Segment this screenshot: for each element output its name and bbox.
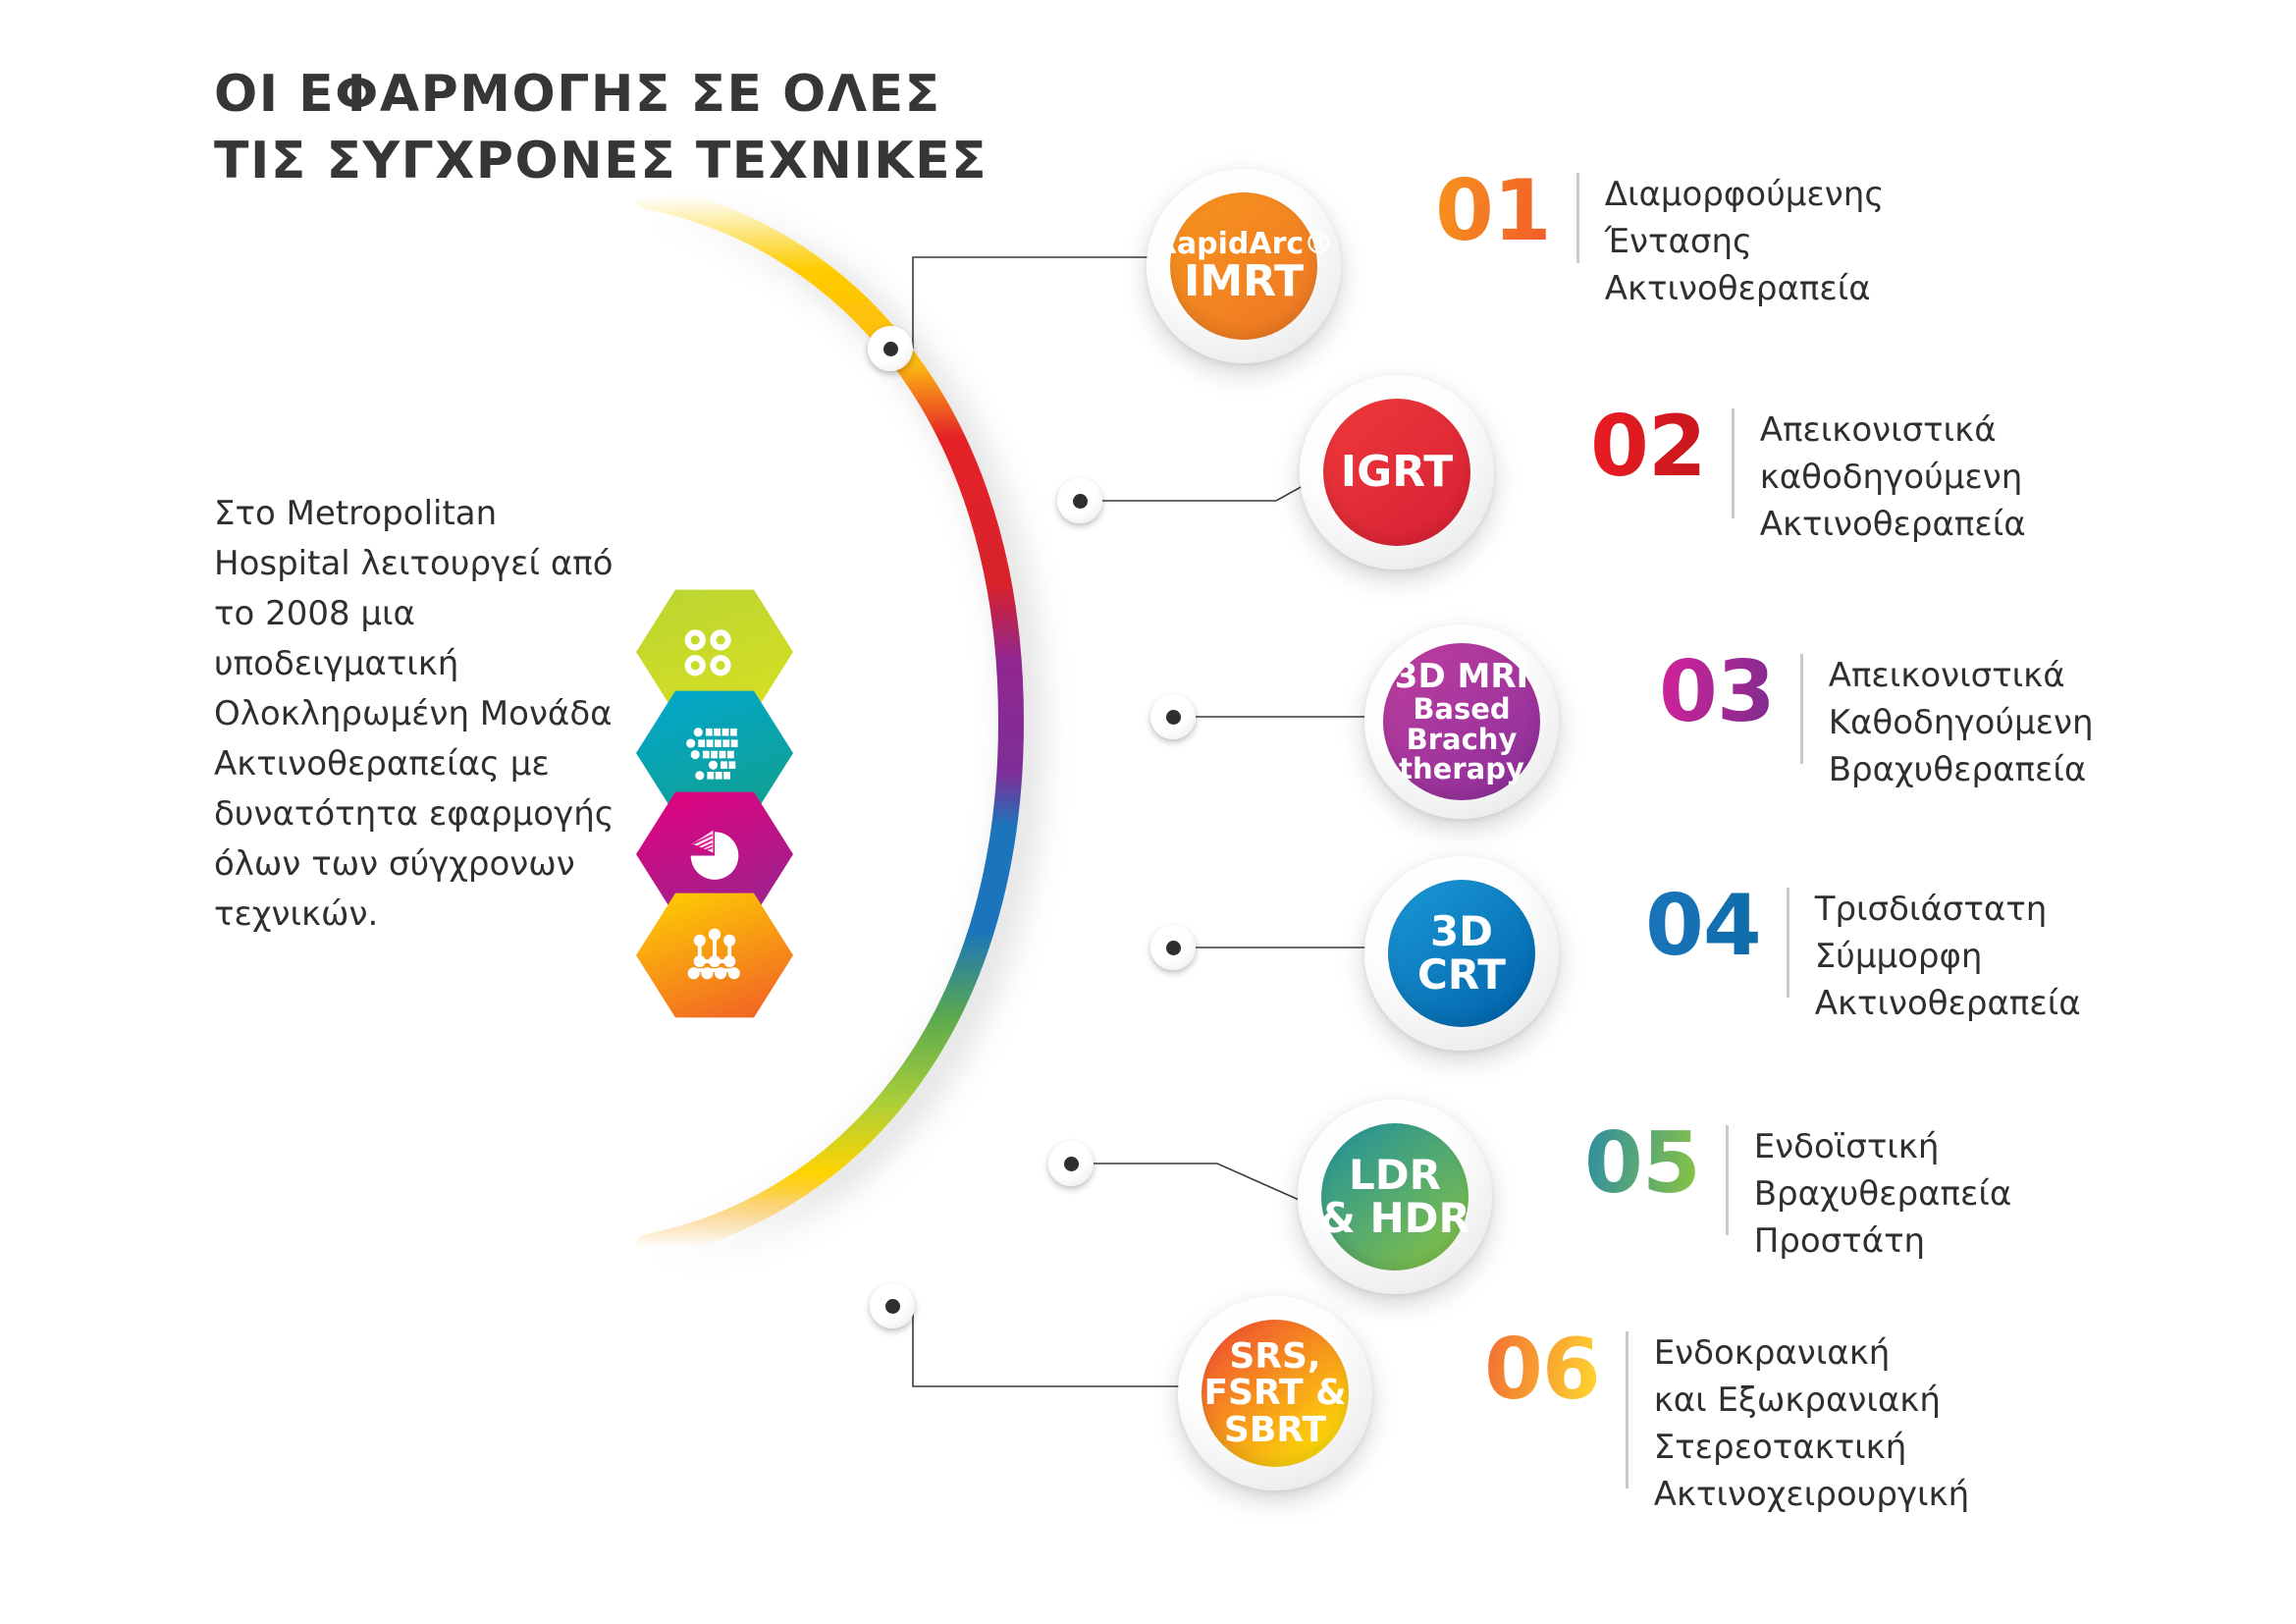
badge-crt[interactable]: 3DCRT [1364, 856, 1559, 1051]
badge-brachy-line-4: therapy [1399, 754, 1524, 784]
intro-paragraph: Στο Metropolitan Hospital λειτουργεί από… [214, 489, 626, 940]
badge-imrt-line-2: IMRT [1184, 259, 1304, 304]
arc-dot-5[interactable] [1048, 1141, 1094, 1186]
item-number-06: 06 [1484, 1327, 1600, 1412]
badge-crt-line-2: CRT [1417, 953, 1506, 997]
item-text-06: Ενδοκρανιακή και Εξωκρανιακή Στερεοτακτι… [1654, 1327, 1969, 1518]
arc-dot-4[interactable] [1150, 925, 1196, 970]
infographic-canvas: ΟΙ ΕΦΑΡΜΟΓΗΣ ΣΕ ΟΛΕΣ ΤΙΣ ΣΥΓΧΡΟΝΕΣ ΤΕΧΝΙ… [0, 0, 2296, 1624]
item-number-04: 04 [1645, 884, 1761, 968]
item-divider-05 [1726, 1125, 1729, 1235]
item-number-03: 03 [1659, 650, 1775, 734]
item-text-01: Διαμορφούμενης Έντασης Ακτινοθεραπεία [1605, 169, 1885, 312]
badge-srs-line-1: SRS, [1229, 1338, 1320, 1375]
badge-ldr-inner: LDR& HDR [1321, 1123, 1468, 1271]
badge-igrt-line-1: IGRT [1341, 450, 1453, 495]
badge-srs-inner: SRS,FSRT &SBRT [1201, 1320, 1349, 1467]
list-item-03[interactable]: 03 Απεικονιστικά Καθοδηγούμενη Βραχυθερα… [1659, 650, 2094, 793]
badge-brachy-line-3: Brachy [1407, 725, 1518, 754]
badge-brachy-line-2: Based [1413, 694, 1510, 724]
list-item-05[interactable]: 05 Ενδοϊστική Βραχυθεραπεία Προστάτη [1584, 1121, 2011, 1265]
item-divider-06 [1626, 1331, 1629, 1489]
list-item-02[interactable]: 02 Απεικονιστικά καθοδηγούμενη Ακτινοθερ… [1590, 405, 2026, 548]
badge-srs[interactable]: SRS,FSRT &SBRT [1178, 1296, 1372, 1490]
arc-dot-1[interactable] [868, 326, 913, 371]
badge-brachy-line-1: 3D MRI [1395, 660, 1528, 694]
item-divider-04 [1787, 888, 1789, 998]
badge-ldr-line-1: LDR [1349, 1154, 1441, 1197]
badge-imrt[interactable]: RapidArc®IMRT [1147, 169, 1341, 363]
arc-dot-2[interactable] [1057, 478, 1102, 523]
list-item-01[interactable]: 01 Διαμορφούμενης Έντασης Ακτινοθεραπεία [1435, 169, 1884, 312]
badge-ldr[interactable]: LDR& HDR [1298, 1100, 1492, 1294]
item-divider-01 [1576, 173, 1579, 263]
item-text-02: Απεικονιστικά καθοδηγούμενη Ακτινοθεραπε… [1760, 405, 2026, 548]
badge-imrt-line-1: RapidArc® [1154, 229, 1333, 259]
badge-igrt[interactable]: IGRT [1300, 375, 1494, 569]
item-text-04: Τρισδιάστατη Σύμμορφη Ακτινοθεραπεία [1815, 884, 2081, 1027]
badge-igrt-inner: IGRT [1323, 399, 1470, 546]
item-text-05: Ενδοϊστική Βραχυθεραπεία Προστάτη [1754, 1121, 2012, 1265]
item-divider-03 [1800, 654, 1803, 764]
badge-srs-line-3: SBRT [1224, 1412, 1326, 1448]
arc-dot-6[interactable] [870, 1283, 915, 1328]
item-number-02: 02 [1590, 405, 1706, 489]
badge-crt-inner: 3DCRT [1388, 880, 1535, 1027]
badge-imrt-inner: RapidArc®IMRT [1170, 192, 1317, 340]
list-item-06[interactable]: 06 Ενδοκρανιακή και Εξωκρανιακή Στερεοτα… [1484, 1327, 1969, 1518]
badge-crt-line-1: 3D [1430, 910, 1493, 953]
badge-ldr-line-2: & HDR [1319, 1197, 1470, 1240]
arc-dot-3[interactable] [1150, 694, 1196, 739]
item-divider-02 [1732, 408, 1735, 518]
badge-srs-line-2: FSRT & [1203, 1375, 1346, 1411]
item-number-01: 01 [1435, 169, 1551, 253]
item-text-03: Απεικονιστικά Καθοδηγούμενη Βραχυθεραπεί… [1829, 650, 2094, 793]
list-item-04[interactable]: 04 Τρισδιάστατη Σύμμορφη Ακτινοθεραπεία [1645, 884, 2081, 1027]
badge-brachy-inner: 3D MRIBasedBrachytherapy [1383, 643, 1540, 800]
item-number-05: 05 [1584, 1121, 1700, 1206]
badge-brachy[interactable]: 3D MRIBasedBrachytherapy [1364, 624, 1559, 819]
